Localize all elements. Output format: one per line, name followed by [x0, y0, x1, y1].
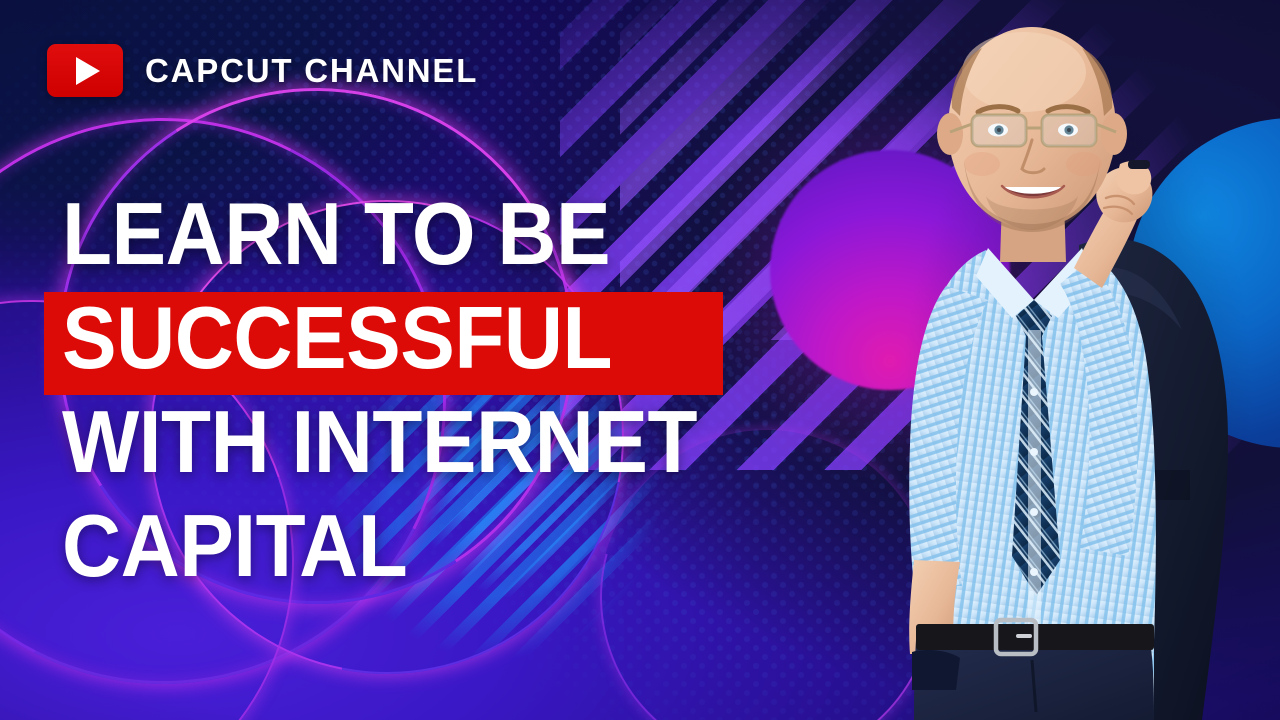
youtube-play-icon[interactable]: [47, 44, 123, 97]
play-triangle-icon: [76, 57, 100, 85]
thumbnail-canvas: CAPCUT CHANNEL LEARN TO BE SUCCESSFUL WI…: [0, 0, 1280, 720]
channel-brand[interactable]: CAPCUT CHANNEL: [47, 44, 478, 97]
channel-name: CAPCUT CHANNEL: [145, 52, 478, 90]
headline-line-3: WITH INTERNET: [62, 390, 843, 494]
headline-line-1: LEARN TO BE: [62, 182, 843, 286]
headline-line-4: CAPITAL: [62, 494, 843, 598]
subject-photo: [836, 0, 1280, 720]
headline-highlight-row: SUCCESSFUL: [62, 286, 902, 390]
headline-block: LEARN TO BE SUCCESSFUL WITH INTERNET CAP…: [62, 182, 902, 598]
headline-line-2: SUCCESSFUL: [62, 286, 843, 390]
